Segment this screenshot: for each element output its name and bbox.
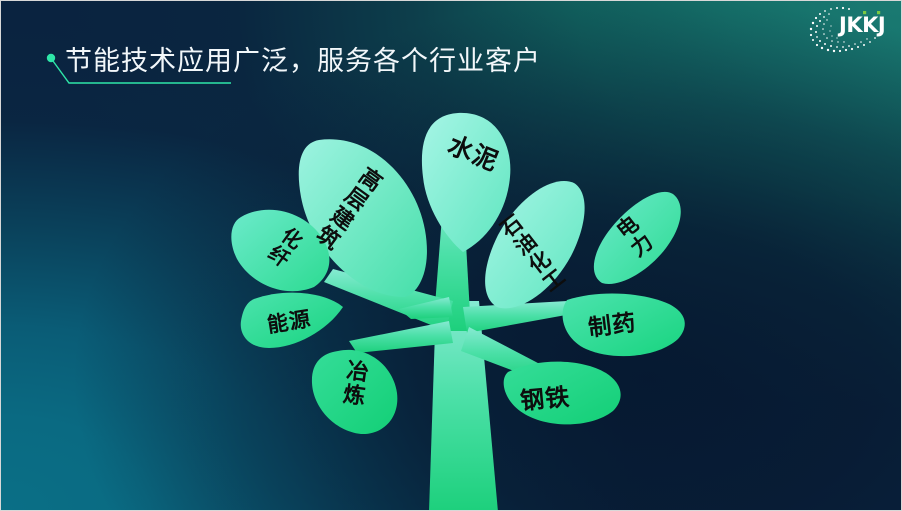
leaf-steel bbox=[504, 362, 621, 425]
leaf-electric-power bbox=[594, 192, 681, 284]
leaf-cement bbox=[422, 113, 510, 252]
page-title: 节能技术应用广泛，服务各个行业客户 bbox=[65, 39, 541, 78]
slide-canvas: 水泥 高层建筑 化纤 能源 冶炼 石油化工 电力 制药 钢铁 节能技术应用广泛，… bbox=[0, 0, 902, 511]
logo-wordmark: JKKJ bbox=[839, 13, 885, 37]
leaf-energy bbox=[241, 293, 343, 348]
brand-logo[interactable]: JKKJ bbox=[801, 3, 893, 55]
title-block: 节能技术应用广泛，服务各个行业客户 bbox=[45, 39, 745, 93]
leaf-smelting bbox=[312, 350, 397, 434]
leaf-pharmaceutical bbox=[563, 293, 685, 356]
accent-dot bbox=[47, 54, 55, 62]
